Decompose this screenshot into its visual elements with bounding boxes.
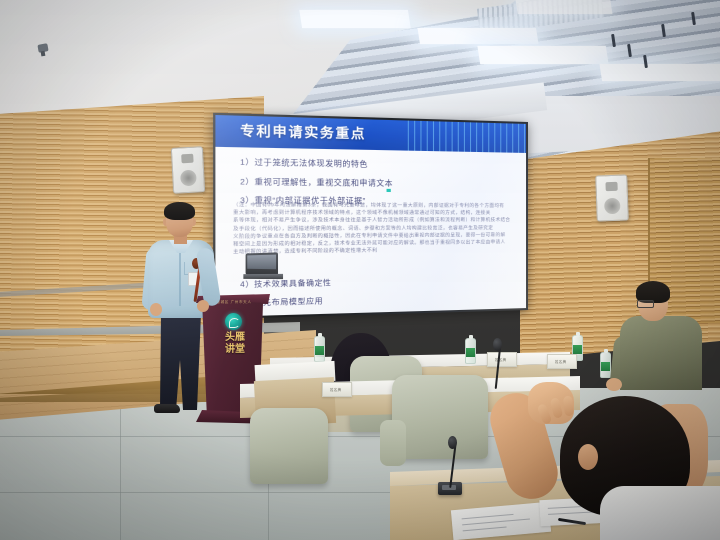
- presenter-shirt-placket: [179, 250, 181, 306]
- name-card-label: 姓名牌: [555, 359, 566, 364]
- presenter-left-hand: [150, 303, 162, 316]
- water-bottle-icon: [465, 338, 476, 364]
- conference-chair[interactable]: [392, 375, 488, 459]
- podium-sign-text: 头雁讲堂: [222, 332, 248, 355]
- presenter-right-hand: [197, 300, 209, 312]
- ceiling-light-panel: [599, 64, 720, 81]
- audience-finger: [563, 396, 574, 417]
- audience-foreground-ear: [578, 444, 598, 470]
- water-bottle-icon: [314, 336, 325, 362]
- chair-armrest: [380, 420, 406, 466]
- wall-speaker-icon: [595, 174, 629, 221]
- paper-text-line: [463, 527, 507, 532]
- laptop-screen: [247, 255, 276, 270]
- lecture-room-photo: 专利申请实务重点 1）过于笼统无法体现发明的特色 2）重视可理解性，重视交底和申…: [0, 0, 720, 540]
- audience-hand: [606, 378, 622, 391]
- speaker-cone: [604, 198, 621, 215]
- microphone-icon: [448, 436, 457, 449]
- presenter-shoe: [154, 404, 180, 413]
- water-bottle-icon: [600, 352, 611, 378]
- laptop-keyboard: [243, 274, 283, 279]
- presenter-hair: [164, 202, 195, 220]
- floor-tile-seam: [120, 388, 121, 540]
- name-card-label: 姓名牌: [330, 387, 341, 392]
- speaker-cone: [180, 170, 197, 187]
- ceiling-light-panel: [515, 0, 612, 14]
- wall-speaker-icon: [171, 146, 205, 194]
- name-card: 姓名牌: [487, 352, 517, 367]
- conference-chair[interactable]: [250, 408, 328, 484]
- paper-text-line: [462, 518, 530, 525]
- paper-text-line: [462, 514, 514, 520]
- laptop-icon[interactable]: [246, 252, 278, 275]
- ceiling-light-panel: [477, 46, 608, 64]
- audience-torso: [620, 316, 702, 390]
- eyeglasses-icon: [637, 300, 654, 308]
- ceiling-sprinkler-icon: [37, 43, 48, 53]
- audience-foreground-torso: [600, 486, 720, 540]
- speaker-tweeter: [605, 182, 617, 191]
- name-card: 姓名牌: [547, 354, 577, 369]
- venue-logo-icon: [225, 313, 242, 330]
- screen-frame: [213, 113, 528, 320]
- ceiling-light-panel: [299, 10, 410, 28]
- projection-screen[interactable]: 专利申请实务重点 1）过于笼统无法体现发明的特色 2）重视可理解性，重视交底和申…: [213, 113, 528, 320]
- speaker-tweeter: [181, 154, 193, 164]
- ceiling-light-panel: [417, 28, 538, 44]
- microphone-icon: [493, 338, 502, 351]
- name-card: 姓名牌: [322, 382, 352, 397]
